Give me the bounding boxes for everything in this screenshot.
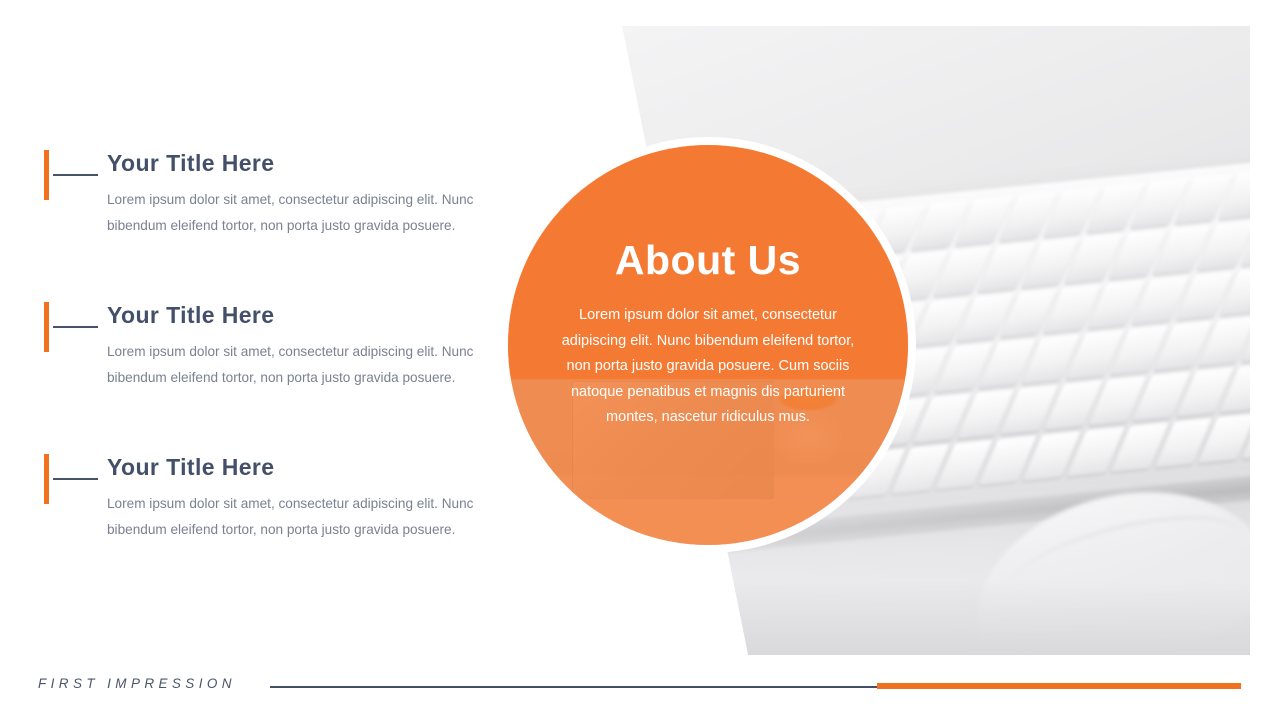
accent-rule-icon xyxy=(53,326,98,328)
about-us-circle: About Us Lorem ipsum dolor sit amet, con… xyxy=(508,145,908,545)
about-us-title: About Us xyxy=(615,240,801,281)
slide-canvas: About Us Lorem ipsum dolor sit amet, con… xyxy=(0,0,1280,720)
feature-block: Your Title Here Lorem ipsum dolor sit am… xyxy=(44,300,484,452)
accent-rule-icon xyxy=(53,478,98,480)
feature-block-body: Lorem ipsum dolor sit amet, consectetur … xyxy=(44,187,482,239)
feature-block-title: Your Title Here xyxy=(44,452,484,482)
feature-block-title: Your Title Here xyxy=(44,148,484,178)
feature-block-list: Your Title Here Lorem ipsum dolor sit am… xyxy=(44,148,484,604)
footer-label: FIRST IMPRESSION xyxy=(38,676,236,691)
accent-bar-icon xyxy=(44,302,49,352)
accent-bar-icon xyxy=(44,454,49,504)
feature-block-body: Lorem ipsum dolor sit amet, consectetur … xyxy=(44,339,482,391)
feature-block-body: Lorem ipsum dolor sit amet, consectetur … xyxy=(44,491,482,543)
feature-block-title: Your Title Here xyxy=(44,300,484,330)
accent-rule-icon xyxy=(53,174,98,176)
feature-block: Your Title Here Lorem ipsum dolor sit am… xyxy=(44,148,484,300)
footer-rule-dark xyxy=(270,686,878,688)
accent-bar-icon xyxy=(44,150,49,200)
footer-rule-orange xyxy=(877,683,1241,689)
slide-footer: FIRST IMPRESSION xyxy=(0,658,1280,720)
feature-block: Your Title Here Lorem ipsum dolor sit am… xyxy=(44,452,484,604)
circle-content: About Us Lorem ipsum dolor sit amet, con… xyxy=(508,145,908,545)
about-us-body: Lorem ipsum dolor sit amet, consectetur … xyxy=(552,303,864,431)
